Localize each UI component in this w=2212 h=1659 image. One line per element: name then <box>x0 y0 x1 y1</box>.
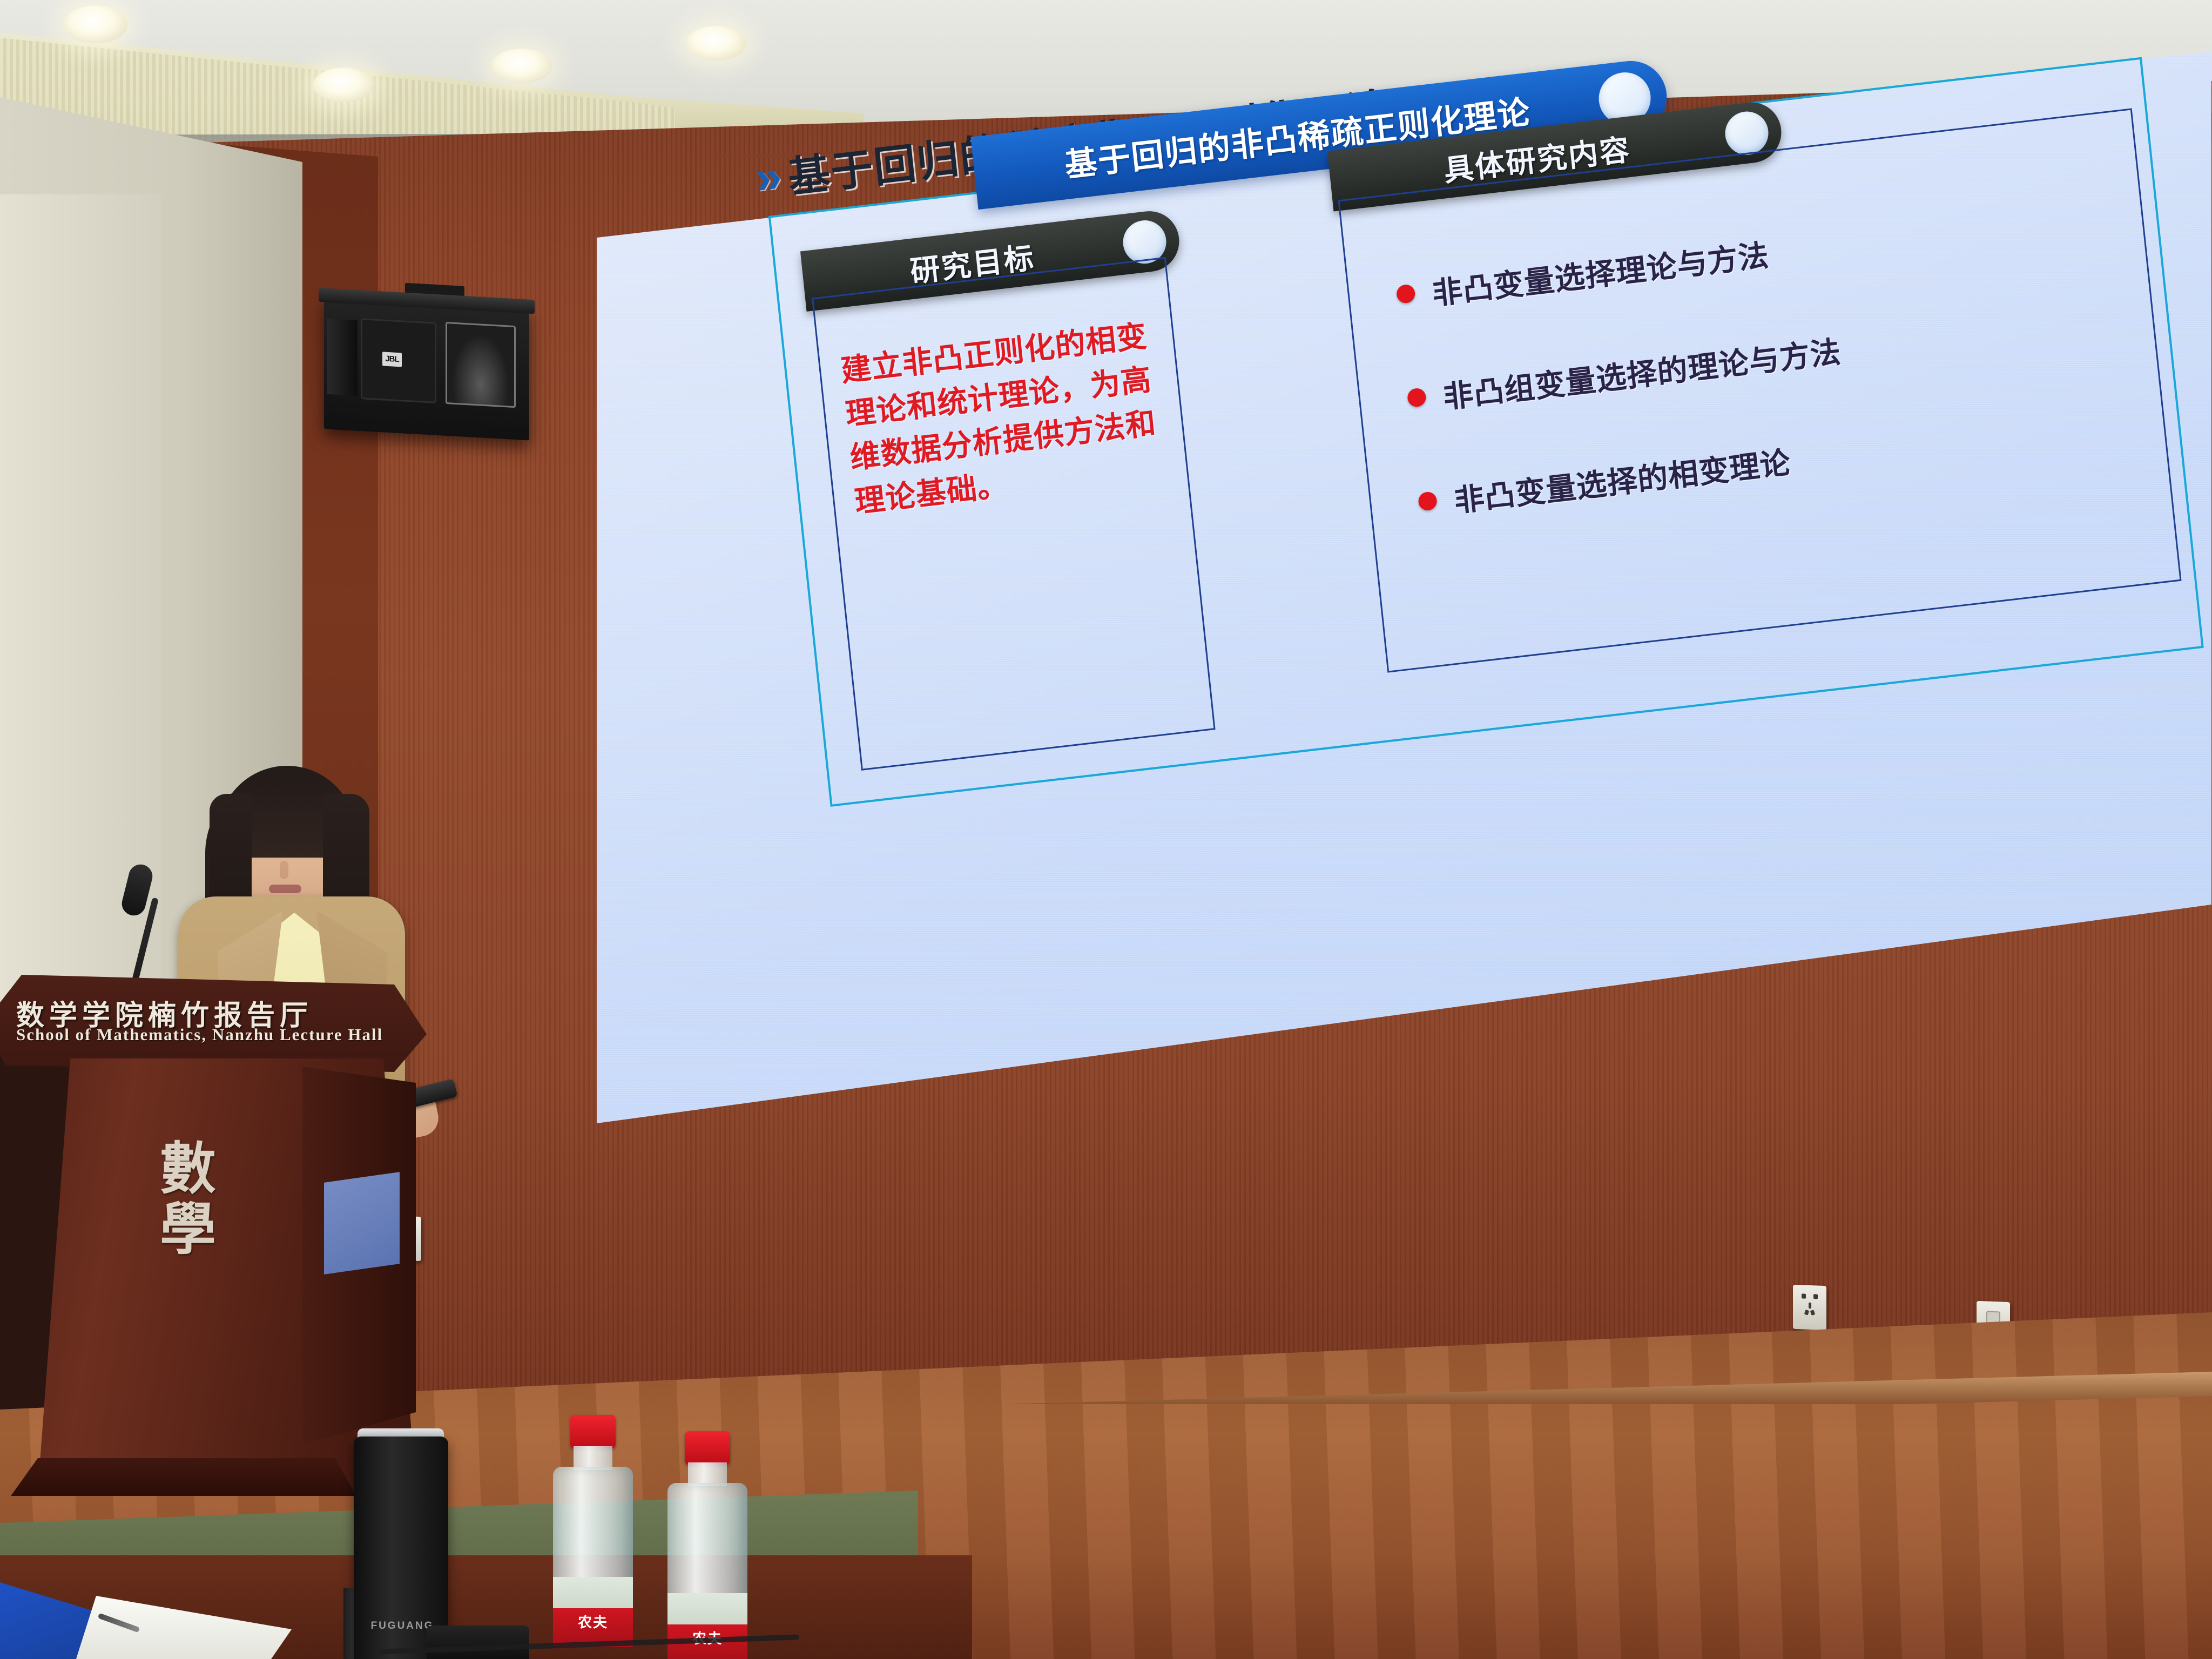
ceiling-downlight-6 <box>686 26 746 60</box>
ceiling-downlight-1 <box>64 5 127 43</box>
thermos-detached-cap <box>427 1626 529 1659</box>
speaker-right-horn <box>446 322 516 408</box>
list-item: 非凸变量选择的相变理论 <box>1417 397 2150 525</box>
bottle-label-upper <box>667 1593 747 1626</box>
presenter-mouth <box>269 885 301 893</box>
double-chevron-icon: » <box>753 153 777 201</box>
bullet-label: 非凸组变量选择的理论与方法 <box>1441 328 1843 417</box>
ceiling-downlight-5 <box>491 49 552 83</box>
wall-speaker: JBL <box>324 296 529 440</box>
bullet-dot-icon <box>1396 284 1416 304</box>
bullet-label: 非凸变量选择的相变理论 <box>1452 439 1792 521</box>
lecture-hall-photo: JBL » 基于回归的稀疏非凸正则化理论 基于回归的非凸稀疏正则化 <box>0 0 2212 1659</box>
bottle-cap <box>570 1415 616 1448</box>
bottle-label-upper <box>553 1577 633 1609</box>
podium-sign-english: School of Mathematics, Nanzhu Lecture Ha… <box>16 1025 416 1044</box>
water-bottle-2: 农夫 <box>664 1431 751 1659</box>
presentation-slide: » 基于回归的稀疏非凸正则化理论 基于回归的非凸稀疏正则化理论 研究目标 具体研… <box>618 0 2212 1091</box>
speaker-left-horn <box>327 319 358 396</box>
water-bottle-1: 农夫 <box>550 1415 636 1647</box>
bottle-brand-label: 农夫 <box>553 1611 633 1631</box>
research-goal-text: 建立非凸正则化的相变理论和统计理论，为高维数据分析提供方法和理论基础。 <box>839 313 1168 524</box>
bullet-dot-icon <box>1418 491 1438 511</box>
power-outlet-wall-right-a <box>1793 1285 1826 1330</box>
outlet-three-pin <box>1805 1303 1815 1317</box>
list-item: 非凸组变量选择的理论与方法 <box>1405 293 2139 421</box>
podium-control-screen <box>324 1172 400 1274</box>
podium-seal-logo: 數學 <box>135 1139 238 1264</box>
speaker-brand-logo: JBL <box>382 352 402 367</box>
presenter-nose <box>280 861 288 879</box>
bottle-cap <box>685 1431 730 1465</box>
bullet-dot-icon <box>1407 387 1427 408</box>
content-circle-icon <box>1723 109 1771 157</box>
outlet-pin-pair <box>1802 1293 1818 1299</box>
podium-base <box>11 1458 356 1496</box>
ceiling-downlight-4 <box>313 68 374 102</box>
